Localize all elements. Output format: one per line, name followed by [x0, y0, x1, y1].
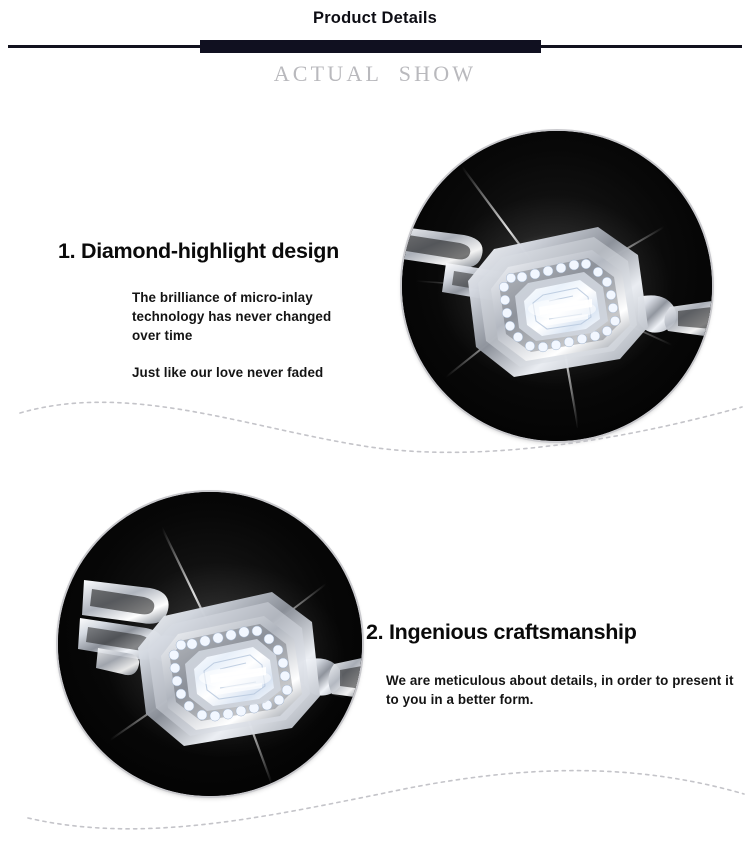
page-header: Product Details ACTUAL SHOW: [0, 0, 750, 100]
header-thick-bar: [200, 40, 541, 53]
jewelry-illustration-1: [402, 131, 712, 441]
product-details-page: Product Details ACTUAL SHOW: [0, 0, 750, 866]
section-1-body-primary: The brilliance of micro-inlay technology…: [132, 288, 347, 346]
section-2-body-primary: We are meticulous about details, in orde…: [386, 671, 736, 710]
section-1-heading: 1. Diamond-highlight design: [58, 239, 398, 264]
divider-wave-bottom: [0, 752, 750, 847]
product-photo-2: [58, 492, 362, 796]
section-2-text: 2. Ingenious craftsmanship We are meticu…: [366, 620, 734, 709]
page-title: Product Details: [0, 9, 750, 28]
section-2-heading: 2. Ingenious craftsmanship: [366, 620, 734, 645]
jewelry-illustration-2: [58, 492, 362, 796]
product-photo-1: [402, 131, 712, 441]
section-1-body-secondary: Just like our love never faded: [132, 363, 372, 382]
header-subtitle: ACTUAL SHOW: [0, 61, 750, 87]
section-1-text: 1. Diamond-highlight design The brillian…: [58, 239, 398, 382]
